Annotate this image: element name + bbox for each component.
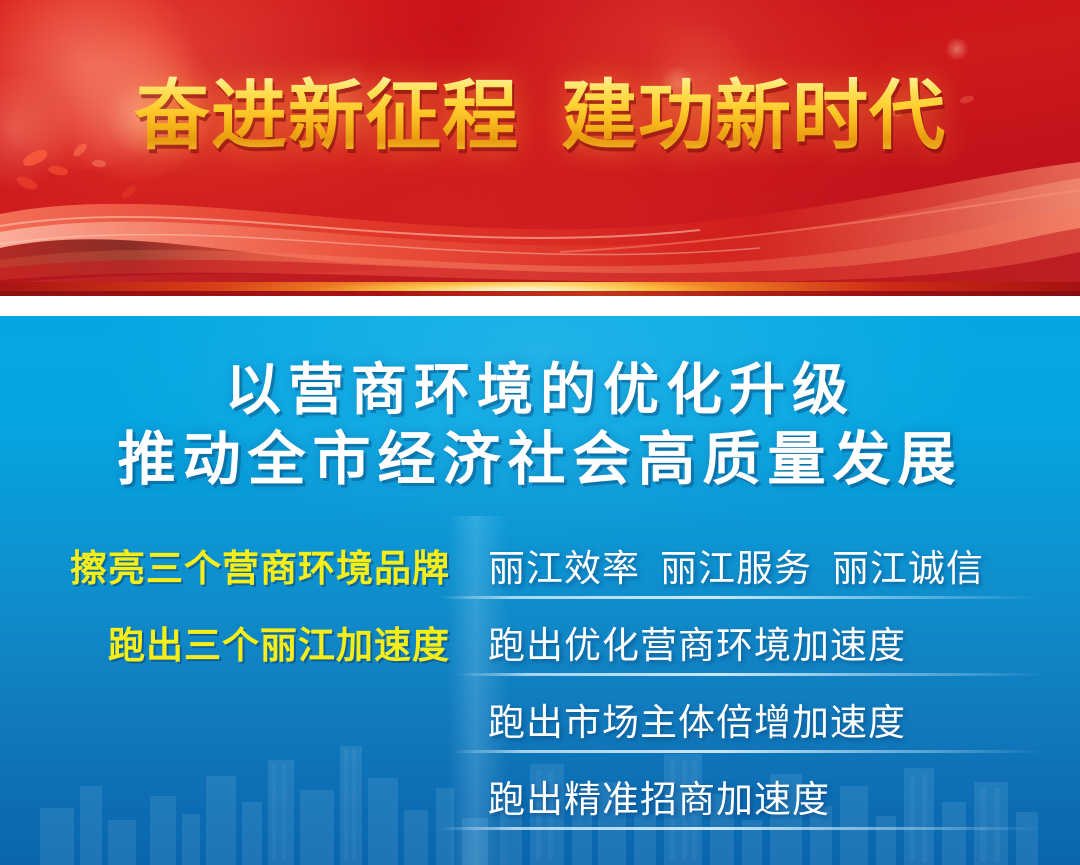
blue-headline-line2: 推动全市经济社会高质量发展 xyxy=(0,424,1080,494)
row-divider xyxy=(458,673,1043,676)
blue-headline-line1: 以营商环境的优化升级 xyxy=(0,358,1080,424)
poster-root: 奋进新征程建功新时代 xyxy=(0,0,1080,865)
red-banner: 奋进新征程建功新时代 xyxy=(0,0,1080,296)
slogan-detail-text: 跑出精准招商加速度 xyxy=(466,769,1080,823)
slogan-lead-label: 跑出三个丽江加速度 xyxy=(0,615,466,669)
slogan-row: 擦亮三个营商环境品牌 丽江效率丽江服务丽江诚信 xyxy=(0,526,1080,603)
blue-panel: 以营商环境的优化升级 推动全市经济社会高质量发展 擦亮三个营商环境品牌 丽江效率… xyxy=(0,316,1080,865)
blue-headline: 以营商环境的优化升级 推动全市经济社会高质量发展 xyxy=(0,358,1080,494)
banner-title-part2: 建功新时代 xyxy=(561,71,946,160)
slogan-row: 跑出精准招商加速度 xyxy=(0,757,1080,834)
row-divider xyxy=(440,596,1040,599)
slogan-detail-text: 跑出市场主体倍增加速度 xyxy=(466,692,1080,746)
slogan-detail-text: 跑出优化营商环境加速度 xyxy=(466,615,1080,669)
ribbon-waves-decoration xyxy=(0,156,1080,296)
banner-title: 奋进新征程建功新时代 xyxy=(0,74,1080,158)
banner-title-part1: 奋进新征程 xyxy=(134,71,519,160)
slogan-rows: 擦亮三个营商环境品牌 丽江效率丽江服务丽江诚信 跑出三个丽江加速度 跑出优化营商… xyxy=(0,526,1080,834)
brand-item-2: 丽江服务 xyxy=(660,547,812,590)
slogan-detail-text: 丽江效率丽江服务丽江诚信 xyxy=(466,538,1080,592)
brand-item-3: 丽江诚信 xyxy=(832,547,984,590)
section-separator xyxy=(0,296,1080,316)
row-divider xyxy=(452,750,1044,753)
slogan-lead-label: 擦亮三个营商环境品牌 xyxy=(0,538,466,592)
bokeh-light-icon xyxy=(945,38,969,60)
brand-item-1: 丽江效率 xyxy=(488,547,640,590)
slogan-row: 跑出三个丽江加速度 跑出优化营商环境加速度 xyxy=(0,603,1080,680)
slogan-row: 跑出市场主体倍增加速度 xyxy=(0,680,1080,757)
row-divider xyxy=(440,827,1044,830)
